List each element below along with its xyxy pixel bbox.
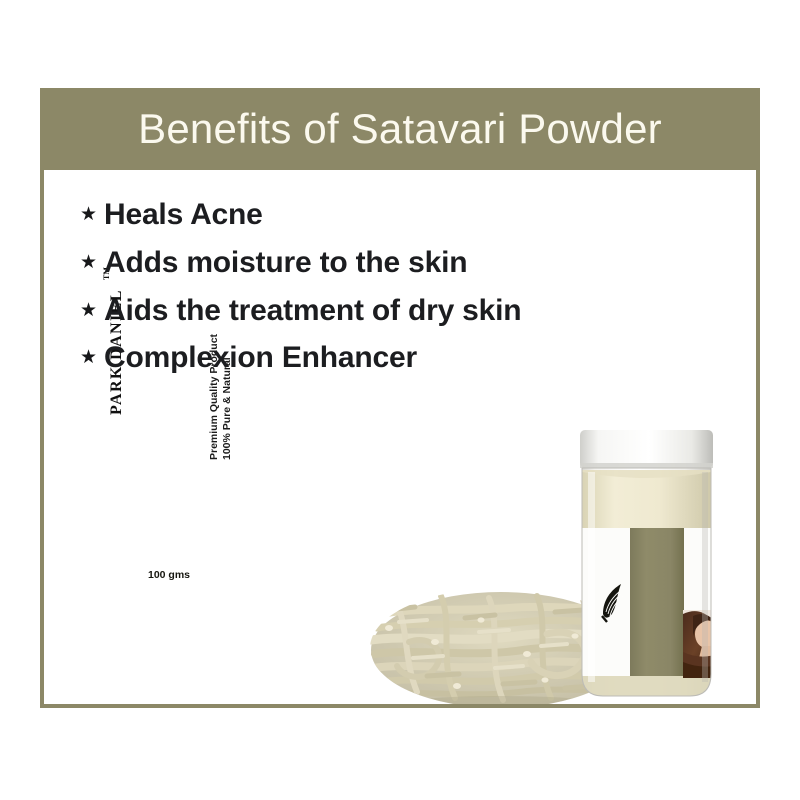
benefit-label: Adds moisture to the skin [104, 246, 467, 281]
poster-header-band: Benefits of Satavari Powder [40, 88, 760, 170]
page-title: Benefits of Satavari Powder [138, 108, 662, 150]
benefit-label: Heals Acne [104, 198, 263, 233]
list-item: ★ Complexion Enhancer [80, 341, 521, 376]
product-jar-image [554, 424, 739, 704]
star-bullet-icon: ★ [80, 301, 104, 320]
list-item: ★ Heals Acne [80, 198, 521, 233]
star-bullet-icon: ★ [80, 253, 104, 272]
star-bullet-icon: ★ [80, 205, 104, 224]
benefit-label: Aids the treatment of dry skin [104, 294, 521, 329]
star-bullet-icon: ★ [80, 348, 104, 367]
benefit-label: Complexion Enhancer [104, 341, 417, 376]
net-weight-label: 100 gms [148, 569, 190, 581]
poster-frame: Benefits of Satavari Powder ★ Heals Acne… [40, 88, 760, 708]
content-panel: ★ Heals Acne ★ Adds moisture to the skin… [44, 170, 756, 704]
benefits-list: ★ Heals Acne ★ Adds moisture to the skin… [80, 198, 521, 389]
list-item: ★ Aids the treatment of dry skin [80, 294, 521, 329]
list-item: ★ Adds moisture to the skin [80, 246, 521, 281]
